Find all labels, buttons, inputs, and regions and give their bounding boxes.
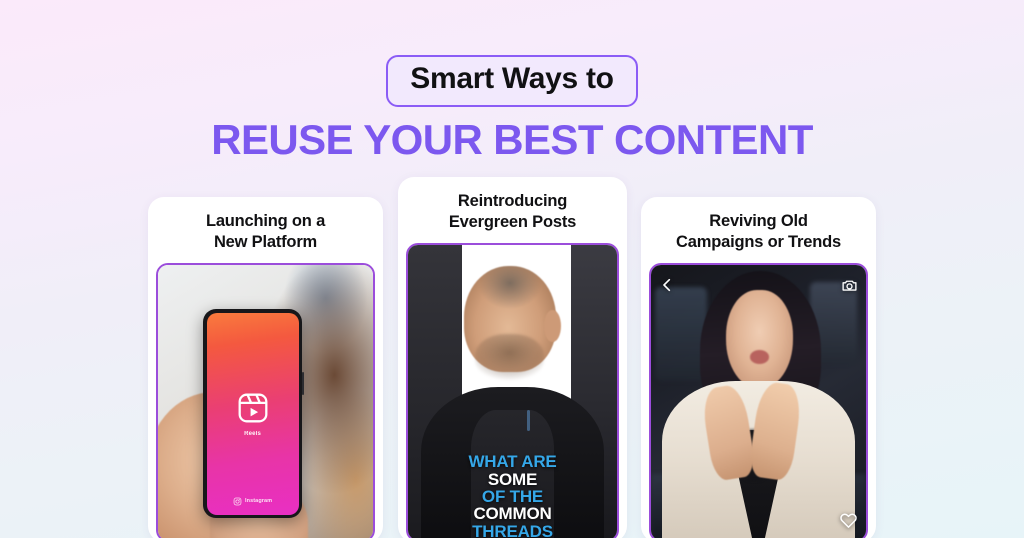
card-title-line2: Evergreen Posts xyxy=(449,213,576,231)
phone-side-button xyxy=(302,372,305,395)
caption-line: OF THE xyxy=(416,488,609,505)
card-title: Reviving Old Campaigns or Trends xyxy=(666,197,851,263)
card-title-line1: Launching on a xyxy=(206,212,325,230)
story-ui-overlay xyxy=(651,265,866,538)
poster-canvas: Smart Ways to REUSE YOUR BEST CONTENT La… xyxy=(0,0,1024,538)
reels-icon xyxy=(236,391,270,425)
card-title: Launching on a New Platform xyxy=(196,197,335,263)
caption-line: THREADS xyxy=(416,523,609,538)
card-media-frame: Reels Instagram xyxy=(156,263,375,538)
photo-man-speaking-with-captions: WHAT ARE SOME OF THE COMMON THREADS xyxy=(408,245,617,538)
person-ear xyxy=(544,310,561,342)
phone-screen: Reels Instagram xyxy=(207,313,299,515)
card-row: Launching on a New Platform xyxy=(0,0,1024,538)
caption-line: COMMON xyxy=(416,505,609,522)
instagram-camera-icon xyxy=(233,497,242,506)
back-chevron-icon[interactable] xyxy=(659,277,675,293)
instagram-wordmark: Instagram xyxy=(245,498,272,504)
card-title-line1: Reintroducing xyxy=(458,192,567,210)
card-media-frame xyxy=(649,263,868,538)
heart-icon[interactable] xyxy=(839,511,858,530)
card-title: Reintroducing Evergreen Posts xyxy=(439,177,586,243)
instagram-brand-footer: Instagram xyxy=(207,497,299,506)
caption-line: WHAT ARE xyxy=(416,453,609,470)
card-media-frame: WHAT ARE SOME OF THE COMMON THREADS xyxy=(406,243,619,538)
card-launching-new-platform[interactable]: Launching on a New Platform xyxy=(148,197,383,538)
photo-hand-holding-phone: Reels Instagram xyxy=(158,265,373,538)
card-title-line2: New Platform xyxy=(214,233,317,251)
person-beard xyxy=(475,334,544,381)
card-reviving-old-campaigns[interactable]: Reviving Old Campaigns or Trends xyxy=(641,197,876,538)
person-lapel-pin xyxy=(527,410,530,431)
video-caption-block: WHAT ARE SOME OF THE COMMON THREADS xyxy=(408,453,617,538)
card-reintroducing-evergreen-posts[interactable]: Reintroducing Evergreen Posts WHAT ARE S… xyxy=(398,177,627,538)
smartphone-device: Reels Instagram xyxy=(203,309,302,518)
caption-line: SOME xyxy=(416,471,609,488)
camera-icon[interactable] xyxy=(841,277,858,294)
reels-label: Reels xyxy=(244,431,261,437)
card-title-line1: Reviving Old xyxy=(709,212,807,230)
photo-woman-speaking-story xyxy=(651,265,866,538)
card-title-line2: Campaigns or Trends xyxy=(676,233,841,251)
